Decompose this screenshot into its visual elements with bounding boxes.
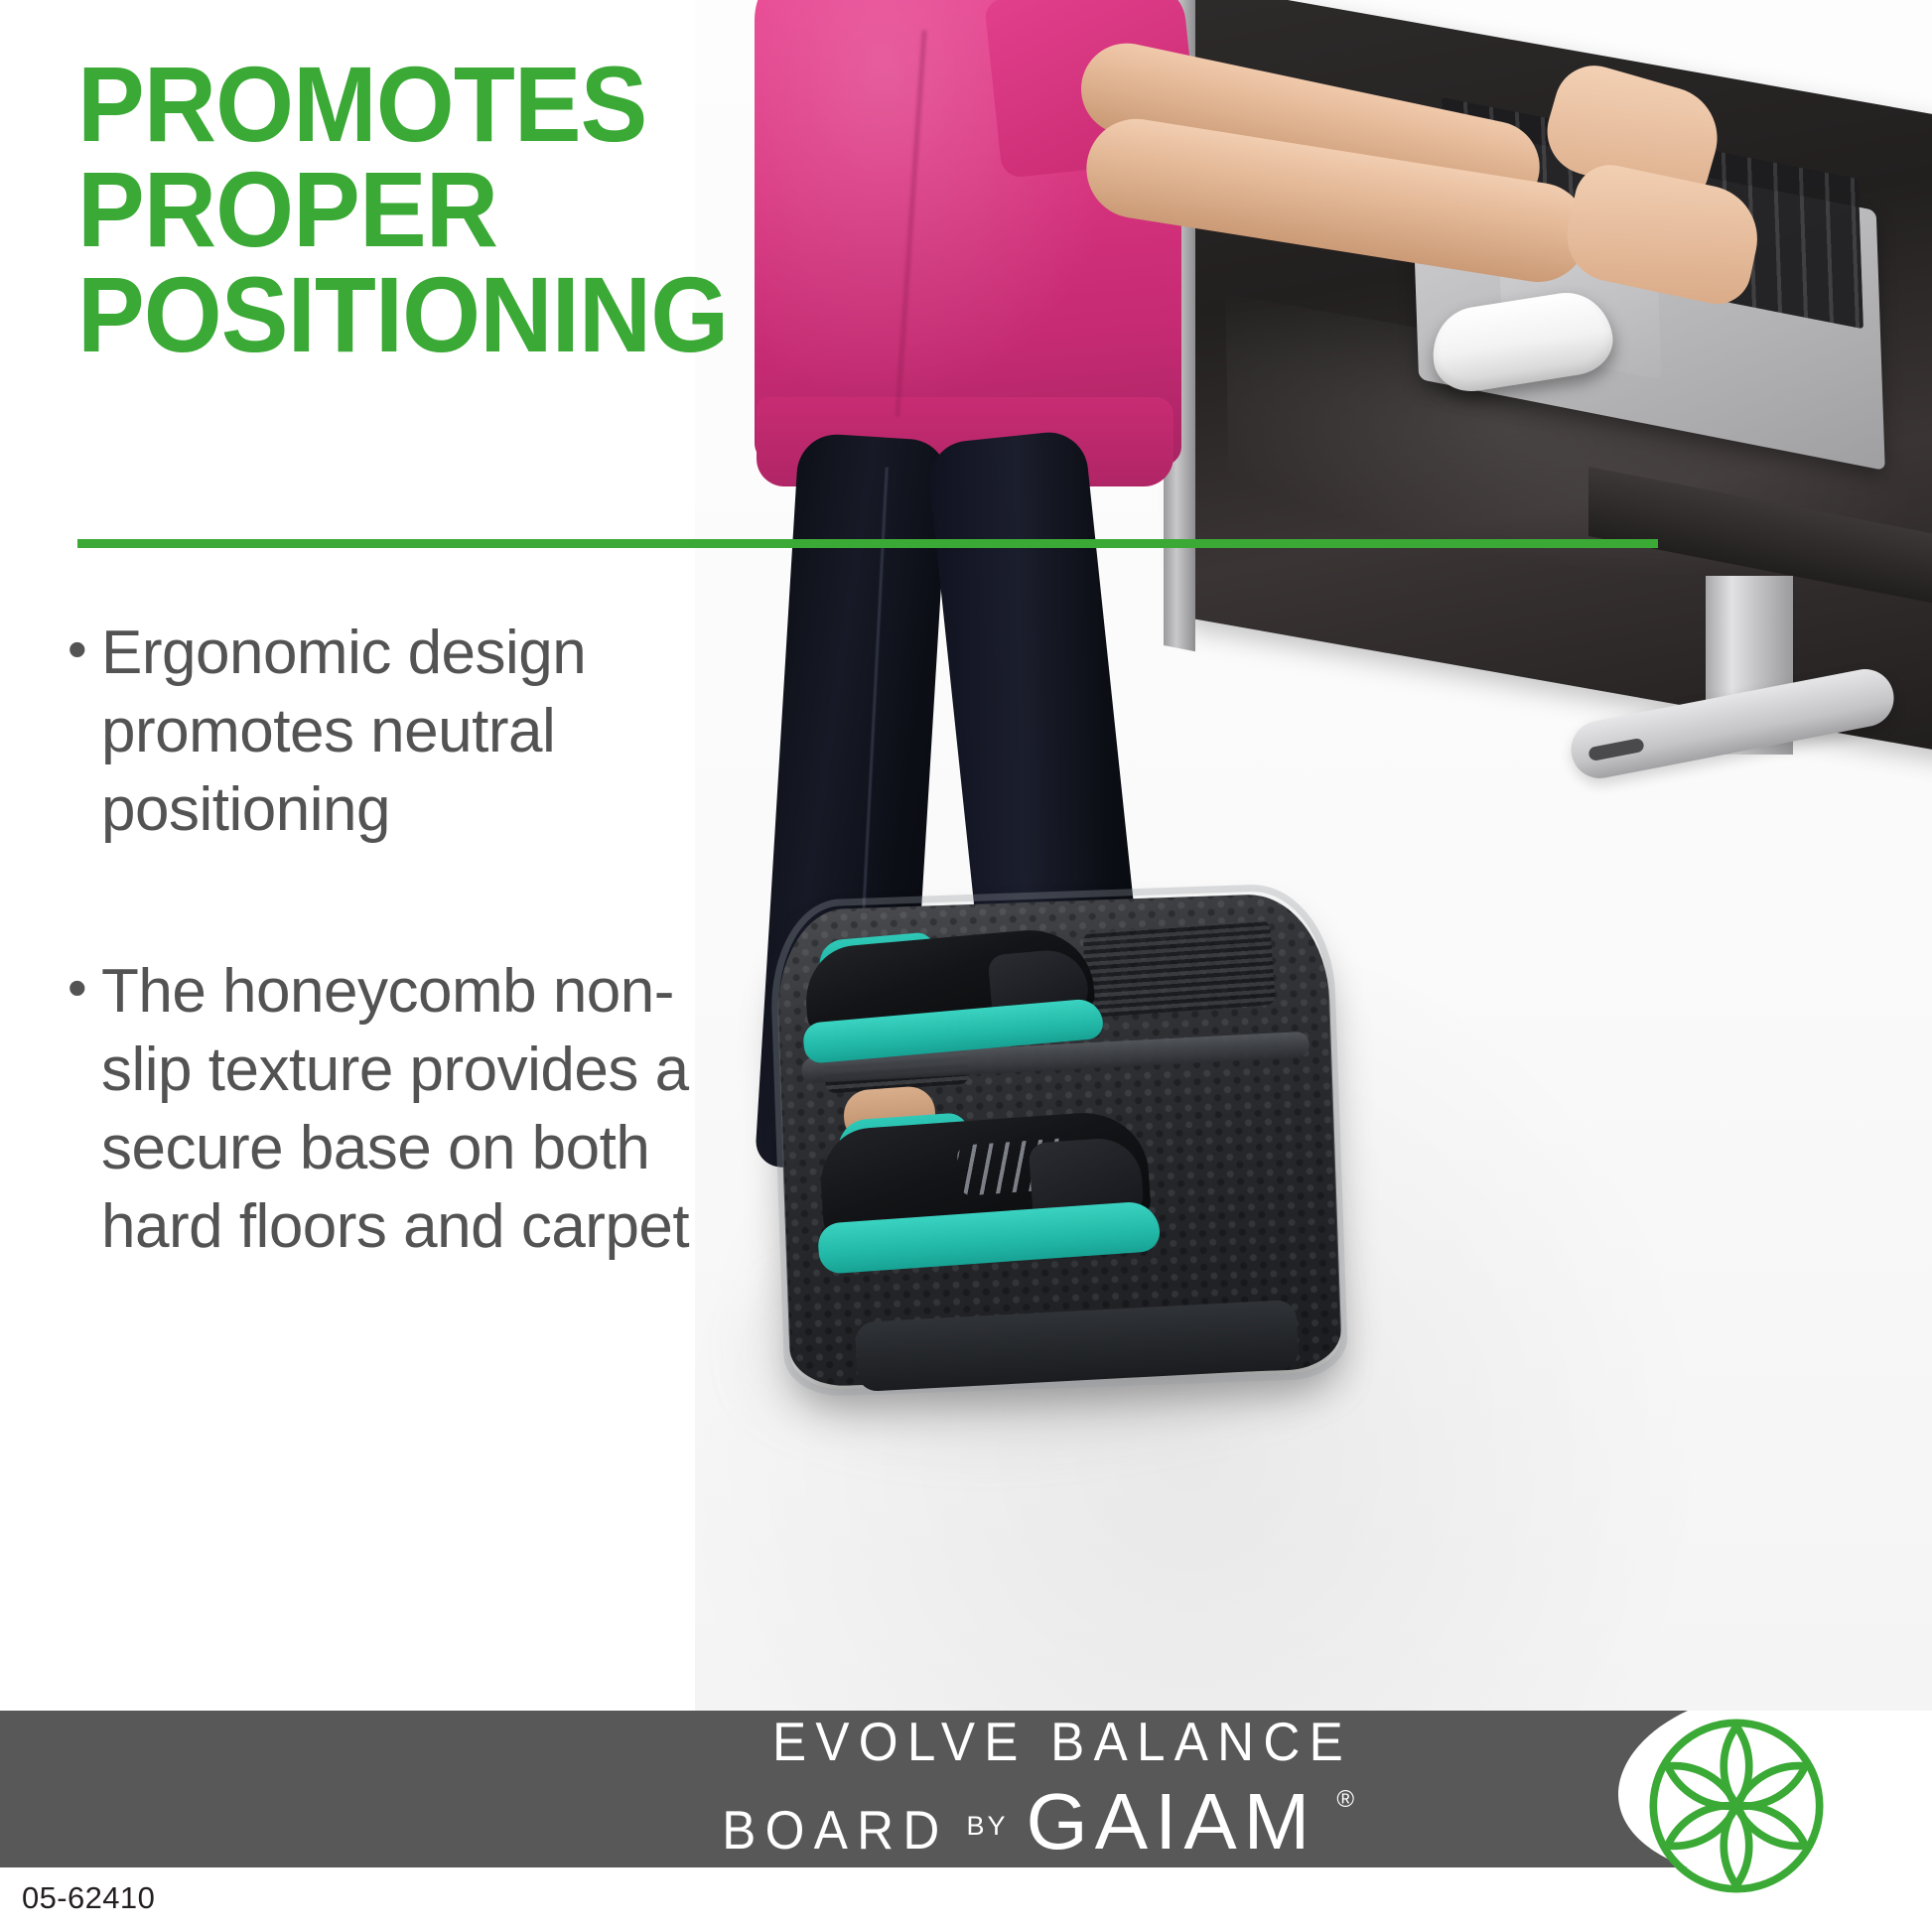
list-item: • Ergonomic design promotes neutral posi…	[64, 614, 699, 849]
brand-footer-bar: EVOLVE BALANCE BOARD BY GAIAM ®	[0, 1711, 1932, 1867]
product-name-line-2: BOARD BY GAIAM ®	[705, 1776, 1352, 1867]
product-infographic: PROMOTES PROPER POSITIONING • Ergonomic …	[0, 0, 1932, 1932]
product-name-line-1: EVOLVE BALANCE	[772, 1711, 1352, 1772]
bullet-marker-icon: •	[64, 614, 101, 685]
headline-line-2: PROPER	[77, 157, 917, 262]
headline-line-1: PROMOTES	[77, 52, 917, 157]
board-vent-right	[1083, 919, 1277, 1018]
green-divider	[77, 539, 1658, 548]
list-item: • The honeycomb non-slip texture provide…	[64, 952, 699, 1266]
registered-trademark-icon: ®	[1336, 1786, 1354, 1814]
sku-code: 05-62410	[22, 1880, 155, 1916]
feature-bullet-list: • Ergonomic design promotes neutral posi…	[64, 614, 699, 1369]
shoe-front	[817, 1109, 1155, 1281]
page-title: PROMOTES PROPER POSITIONING	[77, 52, 917, 366]
product-name-board-word: BOARD	[722, 1799, 948, 1861]
bullet-text: Ergonomic design promotes neutral positi…	[101, 614, 699, 849]
bullet-marker-icon: •	[64, 952, 101, 1024]
bullet-text: The honeycomb non-slip texture provides …	[101, 952, 699, 1266]
footer-brand-text: EVOLVE BALANCE BOARD BY GAIAM ®	[0, 1711, 1370, 1867]
headline-line-3: POSITIONING	[77, 262, 917, 367]
brand-wordmark: GAIAM	[1027, 1776, 1317, 1867]
gaiam-flower-logo	[1646, 1716, 1827, 1896]
shoe-back	[801, 925, 1098, 1069]
by-word: BY	[966, 1811, 1008, 1842]
